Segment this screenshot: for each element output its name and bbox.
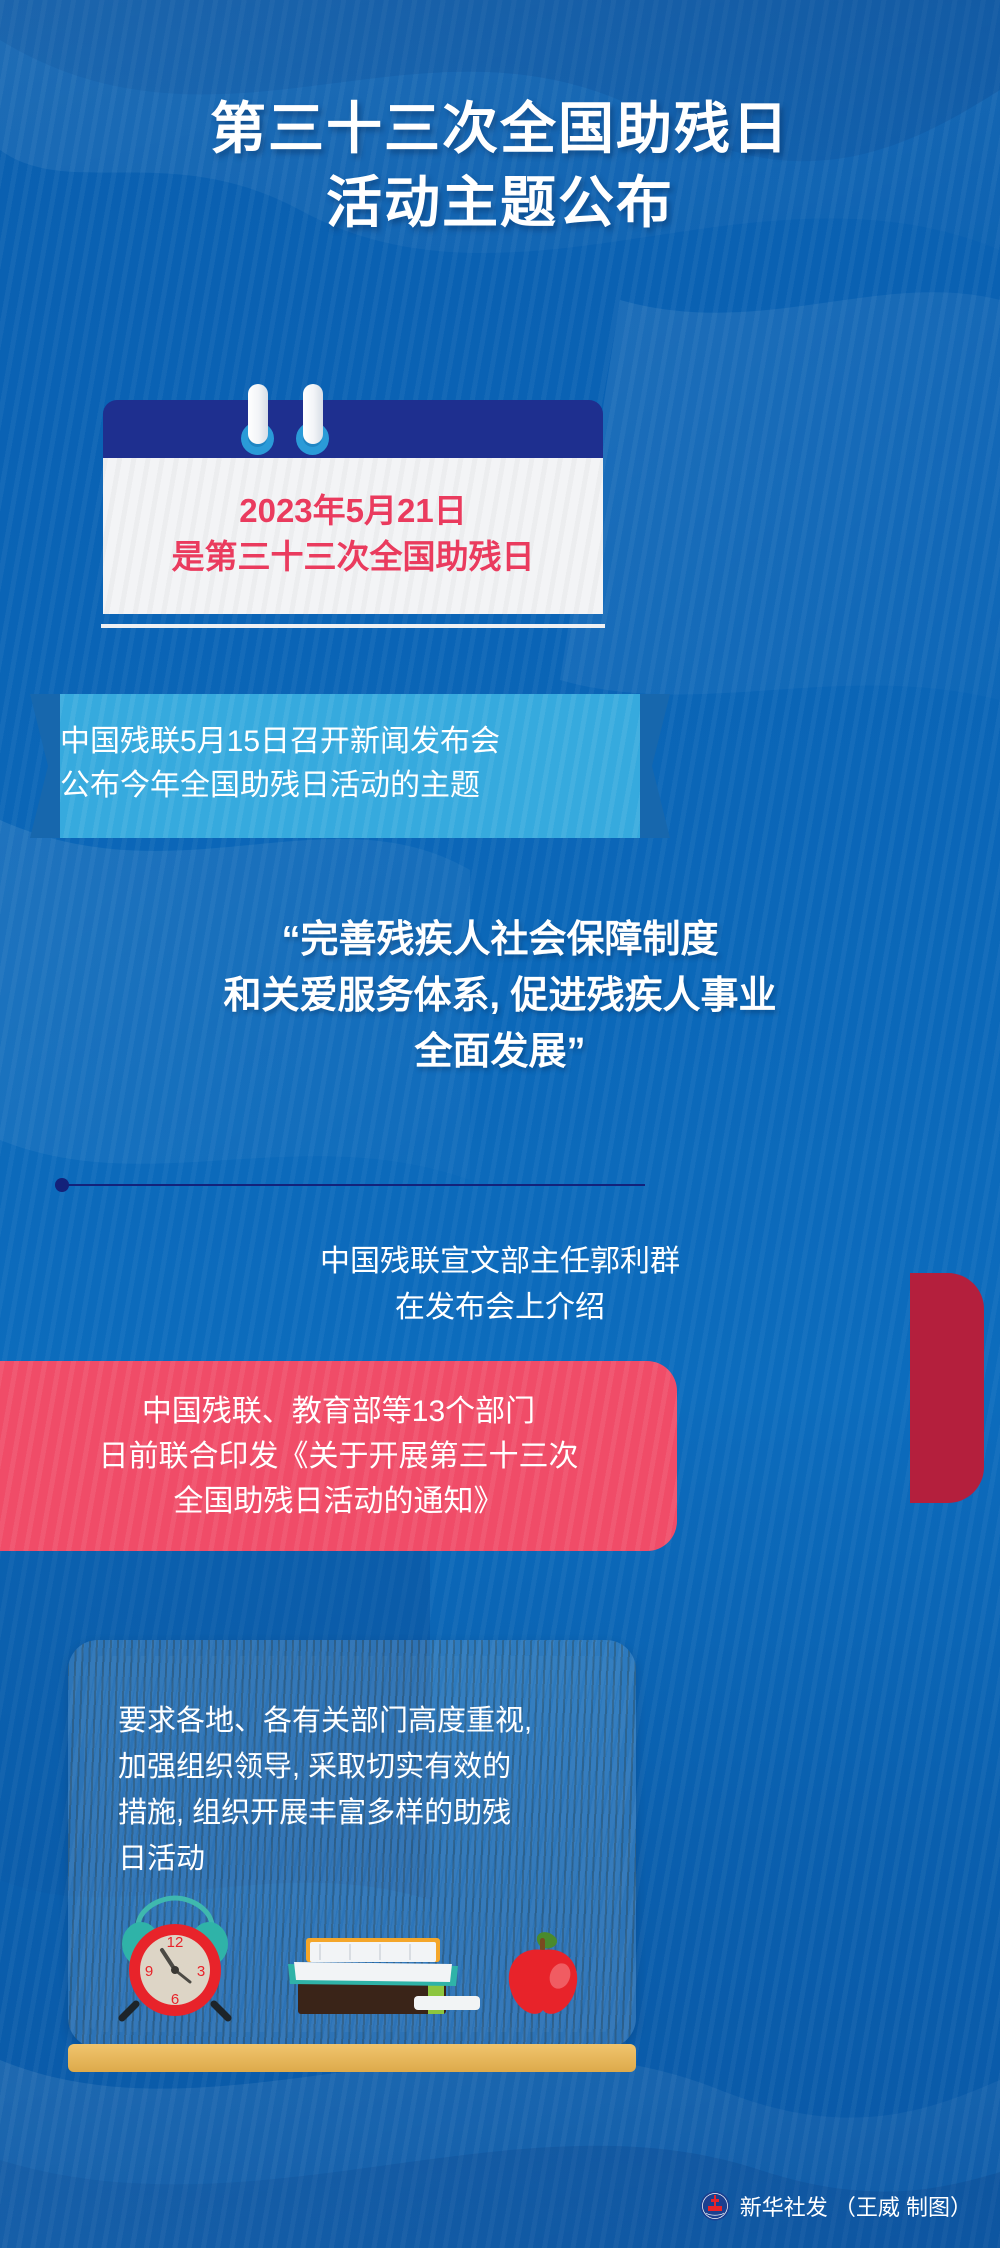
blackboard-base-shelf (68, 2044, 636, 2072)
clock-numeral-6: 6 (171, 1991, 179, 2008)
speaker-line-2: 在发布会上介绍 (0, 1285, 1000, 1331)
ribbon-body: 中国残联5月15日召开新闻发布会 公布今年全国助残日活动的主题 (60, 694, 640, 838)
ribbon-line-2: 公布今年全国助残日活动的主题 (60, 764, 640, 808)
divider-line (65, 1184, 645, 1186)
blackboard-wood-frame: 要求各地、各有关部门高度重视, 加强组织领导, 采取切实有效的 措施, 组织开展… (68, 1640, 636, 2048)
notice-banner-wrapper: 中国残联、教育部等13个部门 日前联合印发《关于开展第三十三次 全国助残日活动的… (0, 1343, 1000, 1553)
chalk-stick-icon (414, 1996, 480, 2010)
calendar-date-text: 2023年5月21日 (103, 488, 603, 534)
blackboard-line-2: 加强组织领导, 采取切实有效的 (118, 1744, 586, 1790)
apple-icon (500, 1924, 586, 2016)
title-line-1: 第三十三次全国助残日 (0, 92, 1000, 166)
calendar-body: 2023年5月21日 是第三十三次全国助残日 (103, 458, 603, 614)
clock-numeral-3: 3 (197, 1963, 205, 1980)
ribbon-banner: 中国残联5月15日召开新闻发布会 公布今年全国助残日活动的主题 (60, 694, 640, 838)
footer-credit: 新华社发 （王威 制图） (700, 2190, 972, 2222)
ribbon-line-1: 中国残联5月15日召开新闻发布会 (60, 720, 640, 764)
alarm-clock-icon: 12 3 6 9 (116, 1892, 234, 2022)
footer-credit-text: 新华社发 （王威 制图） (740, 2190, 972, 2222)
calendar-card: 2023年5月21日 是第三十三次全国助残日 (103, 400, 603, 614)
calendar-footer-edge (101, 624, 605, 628)
speaker-attribution: 中国残联宣文部主任郭利群 在发布会上介绍 (0, 1239, 1000, 1331)
calendar-ring-left (248, 384, 268, 444)
section-divider (55, 1178, 645, 1192)
clock-numeral-9: 9 (145, 1963, 153, 1980)
page-title: 第三十三次全国助残日 活动主题公布 (0, 92, 1000, 240)
blackboard-illustration: 要求各地、各有关部门高度重视, 加强组织领导, 采取切实有效的 措施, 组织开展… (68, 1640, 636, 2048)
calendar-header-bar (103, 400, 603, 458)
title-line-2: 活动主题公布 (0, 166, 1000, 240)
calendar-ring-right (303, 384, 323, 444)
blackboard-line-3: 措施, 组织开展丰富多样的助残 (118, 1790, 586, 1836)
xinhua-logo-icon (700, 2191, 730, 2221)
speaker-line-1: 中国残联宣文部主任郭利群 (0, 1239, 1000, 1285)
notice-line-3: 全国助残日活动的通知》 (0, 1479, 677, 1524)
theme-line-1: “完善残疾人社会保障制度 (0, 912, 1000, 968)
theme-quote: “完善残疾人社会保障制度 和关爱服务体系, 促进残疾人事业 全面发展” (0, 912, 1000, 1080)
notice-banner: 中国残联、教育部等13个部门 日前联合印发《关于开展第三十三次 全国助残日活动的… (0, 1361, 677, 1551)
notice-line-2: 日前联合印发《关于开展第三十三次 (0, 1434, 677, 1479)
theme-line-3: 全面发展” (0, 1024, 1000, 1080)
blackboard-line-1: 要求各地、各有关部门高度重视, (118, 1698, 586, 1744)
theme-line-2: 和关爱服务体系, 促进残疾人事业 (0, 968, 1000, 1024)
blackboard-surface: 要求各地、各有关部门高度重视, 加强组织领导, 采取切实有效的 措施, 组织开展… (84, 1656, 620, 2032)
blackboard-line-4: 日活动 (118, 1836, 586, 1882)
calendar-subtitle-text: 是第三十三次全国助残日 (103, 534, 603, 580)
clock-numeral-12: 12 (167, 1934, 184, 1951)
notice-line-1: 中国残联、教育部等13个部门 (0, 1389, 677, 1434)
